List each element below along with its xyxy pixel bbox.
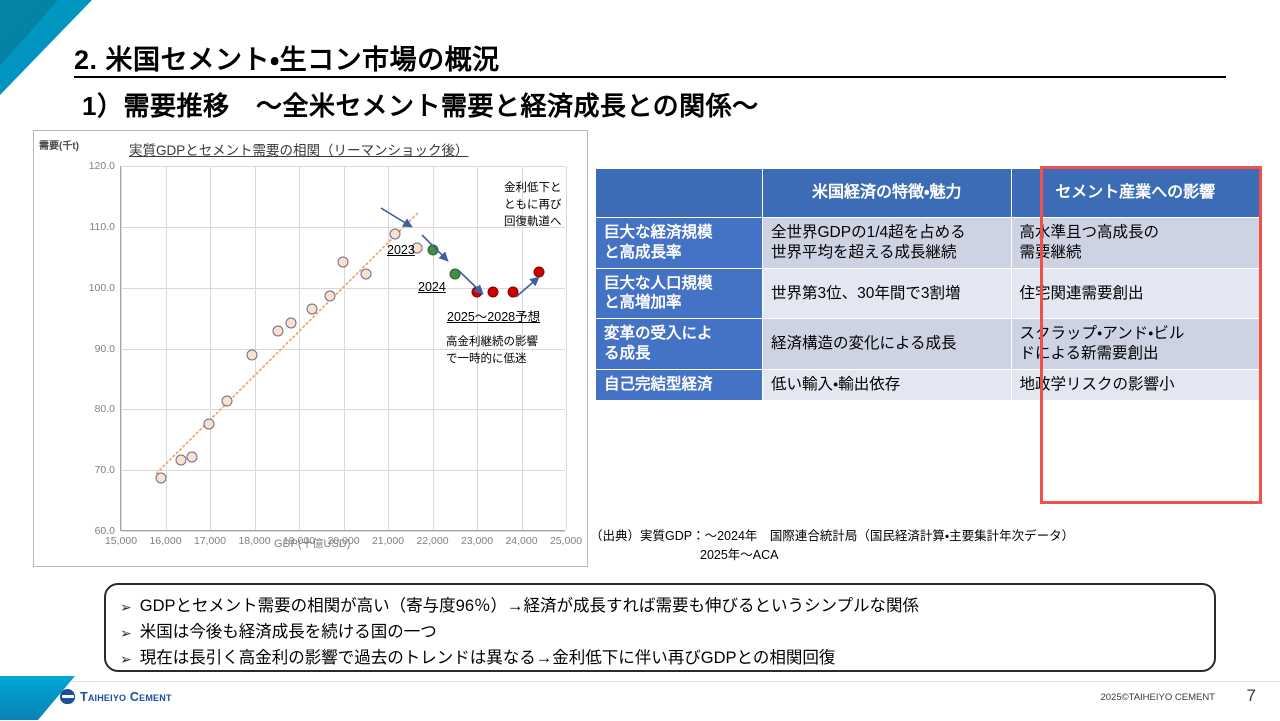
table-header-blank bbox=[596, 169, 763, 218]
chart-x-tick: 22,000 bbox=[416, 535, 448, 547]
summary-bullet-item: ➢GDPとセメント需要の相関が高い（寄与度96％）→経済が成長すれば需要も伸びる… bbox=[120, 595, 1214, 619]
chart-y-tick: 80.0 bbox=[95, 403, 115, 415]
chart-x-tick: 16,000 bbox=[149, 535, 181, 547]
chart-data-point bbox=[272, 326, 283, 337]
chart-x-tick: 15,000 bbox=[105, 535, 137, 547]
bullet-arrow-icon: ➢ bbox=[120, 649, 132, 669]
row-impact: スクラップ・アンド・ビルドによる新需要創出 bbox=[1011, 319, 1260, 370]
table-row: 巨大な経済規模と高成長率全世界GDPの1/4超を占める世界平均を超える成長継続高… bbox=[596, 218, 1260, 269]
chart-x-tick: 18,000 bbox=[238, 535, 270, 547]
company-logo: Taiheiyo Cement bbox=[60, 689, 172, 704]
summary-bullet-text: 米国は今後も経済成長を続ける国の一つ bbox=[140, 621, 437, 645]
page-title: 2. 米国セメント・生コン市場の概況 bbox=[74, 38, 500, 77]
row-feature: 自己完結型経済 bbox=[596, 369, 763, 400]
summary-bullet-text: GDPとセメント需要の相関が高い（寄与度96％）→経済が成長すれば需要も伸びると… bbox=[140, 595, 919, 619]
table-header-features: 米国経済の特徴・魅力 bbox=[763, 169, 1012, 218]
copyright-text: 2025©TAIHEIYO CEMENT bbox=[1100, 692, 1215, 703]
bullet-arrow-icon: ➢ bbox=[120, 597, 132, 617]
chart-panel: 需要(千t) 実質GDPとセメント需要の相関（リーマンショック後） 60.070… bbox=[33, 130, 588, 567]
chart-data-point bbox=[507, 286, 518, 297]
summary-bullet-item: ➢米国は今後も経済成長を続ける国の一つ bbox=[120, 621, 1214, 645]
chart-gridline-v bbox=[388, 166, 389, 530]
chart-data-point bbox=[487, 286, 498, 297]
taiheiyo-mark-icon bbox=[60, 689, 75, 704]
chart-gridline-v bbox=[299, 166, 300, 530]
chart-data-point bbox=[389, 229, 400, 240]
chart-y-axis-caption: 需要(千t) bbox=[39, 137, 79, 152]
row-impact: 地政学リスクの影響小 bbox=[1011, 369, 1260, 400]
annotation-forecast-range: 2025〜2028予想 bbox=[447, 309, 540, 326]
chart-data-point bbox=[307, 303, 318, 314]
chart-y-tick: 100.0 bbox=[89, 282, 115, 294]
chart-data-point bbox=[427, 244, 438, 255]
chart-gridline-h bbox=[121, 531, 565, 532]
source-note: （出典）実質GDP：〜2024年 国際連合統計局（国民経済計算・主要集計年次デー… bbox=[590, 527, 1074, 565]
chart-gridline-v bbox=[344, 166, 345, 530]
table-row: 変革の受入による成長経済構造の変化による成長スクラップ・アンド・ビルドによる新需… bbox=[596, 319, 1260, 370]
footer-band bbox=[0, 681, 1280, 721]
chart-y-tick: 70.0 bbox=[95, 464, 115, 476]
chart-data-point bbox=[285, 317, 296, 328]
annotation-recovery-line2: ともに再び bbox=[504, 198, 562, 213]
row-detail: 経済構造の変化による成長 bbox=[763, 319, 1012, 370]
economy-features-table: 米国経済の特徴・魅力 セメント産業への影響 巨大な経済規模と高成長率全世界GDP… bbox=[595, 168, 1260, 401]
chart-x-tick: 24,000 bbox=[505, 535, 537, 547]
row-detail: 全世界GDPの1/4超を占める世界平均を超える成長継続 bbox=[763, 218, 1012, 269]
row-impact: 高水準且つ高成長の需要継続 bbox=[1011, 218, 1260, 269]
chart-y-tick: 90.0 bbox=[95, 343, 115, 355]
chart-gridline-v bbox=[566, 166, 567, 530]
chart-x-tick: 23,000 bbox=[461, 535, 493, 547]
title-divider bbox=[74, 76, 1226, 78]
chart-data-point bbox=[221, 395, 232, 406]
source-note-line2: 2025年〜ACA bbox=[590, 546, 1074, 565]
source-note-line1: （出典）実質GDP：〜2024年 国際連合統計局（国民経済計算・主要集計年次デー… bbox=[590, 529, 1074, 543]
chart-title: 実質GDPとセメント需要の相関（リーマンショック後） bbox=[129, 139, 468, 159]
row-feature: 巨大な人口規模と高増加率 bbox=[596, 268, 763, 319]
summary-callout-box: ➢GDPとセメント需要の相関が高い（寄与度96％）→経済が成長すれば需要も伸びる… bbox=[104, 583, 1216, 672]
table-header-row: 米国経済の特徴・魅力 セメント産業への影響 bbox=[596, 169, 1260, 218]
row-detail: 低い輸入・輸出依存 bbox=[763, 369, 1012, 400]
page-subtitle: 1）需要推移 〜全米セメント需要と経済成長との関係〜 bbox=[82, 86, 759, 123]
page-number: 7 bbox=[1247, 686, 1256, 706]
annotation-slump-line2: で一時的に低迷 bbox=[446, 352, 527, 367]
row-feature: 巨大な経済規模と高成長率 bbox=[596, 218, 763, 269]
chart-data-point bbox=[449, 268, 460, 279]
bullet-arrow-icon: ➢ bbox=[120, 623, 132, 643]
chart-data-point bbox=[472, 286, 483, 297]
chart-x-tick: 25,000 bbox=[550, 535, 582, 547]
chart-y-tick: 120.0 bbox=[89, 160, 115, 172]
chart-data-point bbox=[176, 454, 187, 465]
company-logo-text: Taiheiyo Cement bbox=[80, 690, 172, 704]
chart-data-point bbox=[204, 418, 215, 429]
chart-data-point bbox=[337, 257, 348, 268]
row-feature: 変革の受入による成長 bbox=[596, 319, 763, 370]
chart-data-point bbox=[247, 349, 258, 360]
row-impact: 住宅関連需要創出 bbox=[1011, 268, 1260, 319]
annotation-slump-line1: 高金利継続の影響 bbox=[446, 335, 538, 350]
table-row: 巨大な人口規模と高増加率世界第3位、30年間で3割増住宅関連需要創出 bbox=[596, 268, 1260, 319]
annotation-recovery-line1: 金利低下と bbox=[504, 181, 562, 196]
summary-bullet-item: ➢現在は長引く高金利の影響で過去のトレンドは異なる→金利低下に伴い再びGDPとの… bbox=[120, 647, 1214, 671]
row-detail: 世界第3位、30年間で3割増 bbox=[763, 268, 1012, 319]
chart-x-axis-caption: GDP(十億USD) bbox=[274, 535, 350, 551]
table-row: 自己完結型経済低い輸入・輸出依存地政学リスクの影響小 bbox=[596, 369, 1260, 400]
chart-data-point bbox=[325, 291, 336, 302]
chart-data-point bbox=[156, 473, 167, 484]
chart-data-point bbox=[187, 451, 198, 462]
chart-x-tick: 21,000 bbox=[372, 535, 404, 547]
chart-data-point bbox=[534, 267, 545, 278]
chart-y-tick: 110.0 bbox=[90, 221, 116, 233]
summary-bullet-text: 現在は長引く高金利の影響で過去のトレンドは異なる→金利低下に伴い再びGDPとの相… bbox=[140, 647, 836, 671]
chart-gridline-v bbox=[121, 166, 122, 530]
chart-data-point bbox=[360, 269, 371, 280]
chart-x-tick: 17,000 bbox=[194, 535, 226, 547]
chart-gridline-v bbox=[210, 166, 211, 530]
chart-gridline-v bbox=[433, 166, 434, 530]
chart-gridline-v bbox=[255, 166, 256, 530]
annotation-year-2024: 2024 bbox=[418, 279, 446, 296]
table-header-impact: セメント産業への影響 bbox=[1011, 169, 1260, 218]
annotation-recovery-line3: 回復軌道へ bbox=[504, 215, 562, 230]
annotation-year-2023: 2023 bbox=[387, 242, 415, 259]
